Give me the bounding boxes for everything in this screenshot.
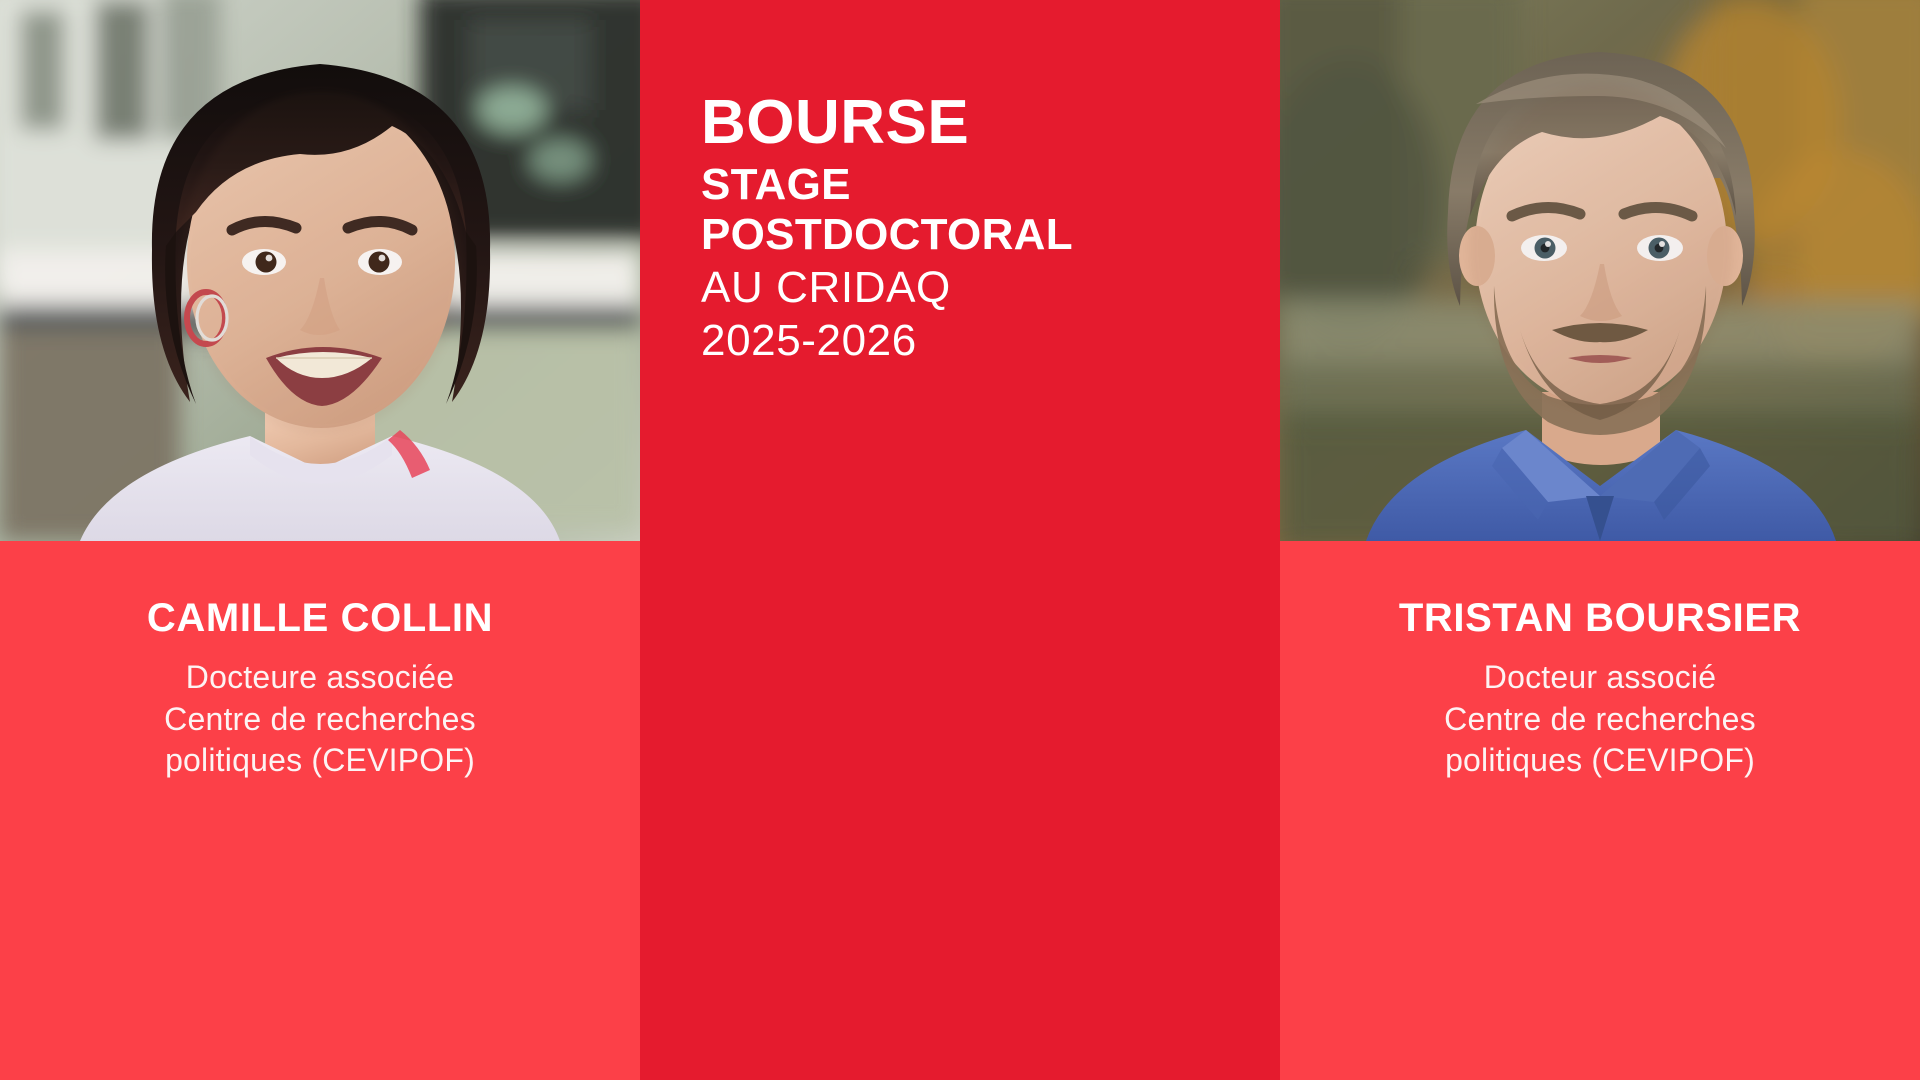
title-line-years: 2025-2026 bbox=[701, 315, 1261, 368]
person-role-line3-left: politiques (CEVIPOF) bbox=[0, 740, 640, 782]
person-info-panel-left: CAMILLE COLLIN Docteure associée Centre … bbox=[0, 541, 640, 1080]
poster-canvas: CAMILLE COLLIN Docteure associée Centre … bbox=[0, 0, 1920, 1080]
person-role-line3-right: politiques (CEVIPOF) bbox=[1280, 740, 1920, 782]
person-name-left: CAMILLE COLLIN bbox=[0, 541, 640, 639]
center-title-column: BOURSE STAGE POSTDOCTORAL AU CRIDAQ 2025… bbox=[640, 0, 1280, 1080]
person-role-right: Docteur associé Centre de recherches pol… bbox=[1280, 639, 1920, 782]
left-person-column: CAMILLE COLLIN Docteure associée Centre … bbox=[0, 0, 640, 1080]
title-line-au-cridaq: AU CRIDAQ bbox=[701, 262, 1261, 315]
right-person-column: TRISTAN BOURSIER Docteur associé Centre … bbox=[1280, 0, 1920, 1080]
poster-title-block: BOURSE STAGE POSTDOCTORAL AU CRIDAQ 2025… bbox=[701, 92, 1261, 368]
person-name-right: TRISTAN BOURSIER bbox=[1280, 541, 1920, 639]
title-line-bourse: BOURSE bbox=[701, 92, 1261, 154]
person-role-line1-right: Docteur associé bbox=[1280, 657, 1920, 699]
person-role-line1-left: Docteure associée bbox=[0, 657, 640, 699]
person-role-left: Docteure associée Centre de recherches p… bbox=[0, 639, 640, 782]
person-role-line2-left: Centre de recherches bbox=[0, 699, 640, 741]
title-line-postdoctoral: POSTDOCTORAL bbox=[701, 210, 1261, 260]
title-line-stage: STAGE bbox=[701, 160, 1261, 210]
person-info-panel-right: TRISTAN BOURSIER Docteur associé Centre … bbox=[1280, 541, 1920, 1080]
person-role-line2-right: Centre de recherches bbox=[1280, 699, 1920, 741]
photo-tristan-boursier bbox=[1280, 0, 1920, 541]
photo-camille-collin bbox=[0, 0, 640, 541]
